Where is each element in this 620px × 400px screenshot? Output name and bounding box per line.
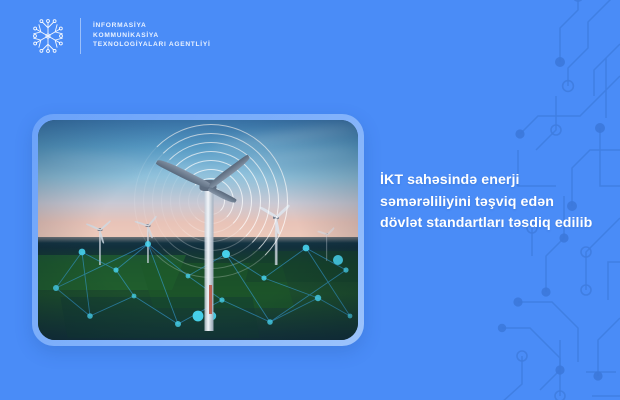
distant-turbine [99,230,101,265]
snowflake-circuit-logo-icon [26,14,70,58]
brand-header: İNFORMASİYA KOMMUNİKASİYA TEXNOLOGİYALAR… [26,14,211,58]
distant-turbine [275,217,278,265]
news-banner: İNFORMASİYA KOMMUNİKASİYA TEXNOLOGİYALAR… [0,0,620,400]
main-wind-turbine [204,186,213,331]
brand-wordmark: İNFORMASİYA KOMMUNİKASİYA TEXNOLOGİYALAR… [91,23,211,49]
distant-turbine [147,226,149,263]
field-layer [38,237,358,340]
headline-title: İKT sahəsində enerji səmərəliliyini təşv… [380,170,595,235]
brand-line-3: TEXNOLOGİYALARI AGENTLİYİ [93,42,211,49]
brand-divider [80,18,81,54]
brand-line-2: KOMMUNİKASİYA [93,33,211,40]
distant-turbine [326,234,328,260]
hero-image-card [32,114,364,346]
brand-line-1: İNFORMASİYA [93,23,211,30]
wind-turbine-photo [38,120,358,340]
